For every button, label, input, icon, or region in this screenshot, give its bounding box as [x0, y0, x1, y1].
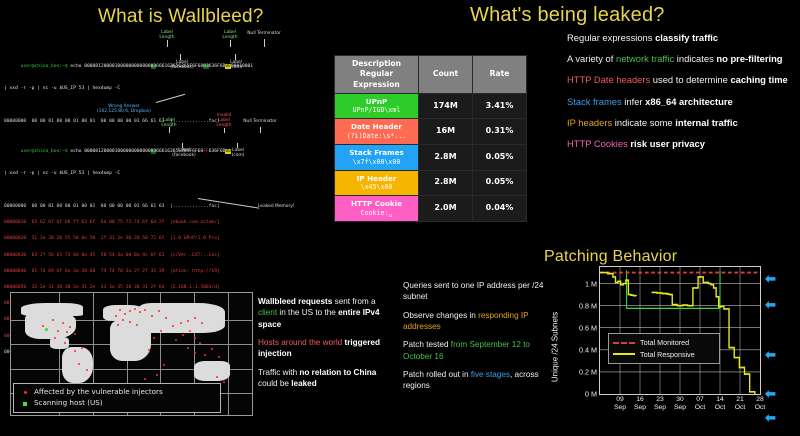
chart-x-tick-day: 23: [654, 396, 666, 404]
cell-description: UPnP UPnP/IGD\xml: [335, 93, 419, 119]
stage-arrow-icon: ⬅: [765, 300, 784, 309]
chart-x-tick: 09Sep: [614, 396, 626, 413]
chart-x-tick-day: 07: [695, 396, 706, 404]
text-span: used to determine: [650, 74, 730, 85]
chart-x-tick-day: 16: [634, 396, 646, 404]
text-span: IP headers: [567, 117, 612, 128]
text-span: HTTP Cookies: [567, 138, 628, 149]
affected-text-column: Wallbleed requests sent from a client in…: [258, 296, 390, 396]
cell-rate: 0.31%: [473, 119, 527, 145]
cell-rate: 0.04%: [473, 196, 527, 222]
stage-arrow-icon: ⬅: [765, 389, 784, 398]
annotation-tick: [260, 127, 261, 133]
annotation-label-com: Label (com): [220, 148, 256, 158]
column-header-description: Description Regular Expression: [335, 56, 419, 94]
regex-leak-table: Description Regular Expression Count Rat…: [334, 55, 527, 222]
cell-count: 174M: [419, 93, 473, 119]
regex-name: Date Header: [351, 122, 402, 131]
chart-stage-outline: [627, 270, 720, 308]
chart-x-tick-day: 30: [674, 396, 686, 404]
chart-x-tick-month: Oct: [715, 404, 726, 412]
cell-count: 2.0M: [419, 196, 473, 222]
landmass-south-america: [62, 347, 93, 384]
annotation-wrong-answer: Wrong Answer (162.125.80.6, Dropbox): [92, 104, 156, 114]
terminal-command-line-2: | xxd -r -p | nc -u $US_IP 53 | hexdump …: [4, 171, 329, 176]
world-map: Affected by the vulnerable injectors Sca…: [10, 292, 253, 416]
chart-y-tick: 0.4 M: [579, 345, 597, 354]
header-desc-line1: Description: [337, 59, 416, 69]
cell-rate: 0.05%: [473, 170, 527, 196]
solid-line-icon: [613, 353, 635, 355]
affected-paragraph: Hosts around the world triggered injecti…: [258, 337, 390, 360]
chart-legend-item: Total Monitored: [613, 337, 715, 349]
green-square-icon: [23, 402, 27, 406]
cell-description: IP Header \x45\x00: [335, 170, 419, 196]
patch-paragraph: Observe changes in responding IP address…: [403, 310, 545, 333]
chart-x-tick: 14Oct: [715, 396, 726, 413]
text-span: Patch tested: [403, 340, 451, 349]
legend-label: Scanning host (US): [34, 398, 103, 409]
hexdump-row: 00000050 32 2e 31 36 38 2e 31 2e 31 3a 3…: [4, 285, 329, 290]
regex-pattern: \x45\x00: [337, 183, 416, 192]
chart-x-tick: 07Oct: [695, 396, 706, 413]
leaked-bullet: HTTP Date headers used to determine cach…: [567, 74, 795, 86]
chart-y-axis-label: Unique /24 Subnets: [551, 311, 560, 381]
affected-paragraph: Wallbleed requests sent from a client in…: [258, 296, 390, 330]
annotation-tick: [264, 39, 265, 47]
poster-root: What is Wallbleed? What's being leaked? …: [0, 0, 800, 436]
terminal-command-line-2: | xxd -r -p | nc -u $US_IP 53 | hexdump …: [4, 86, 329, 91]
table-row: HTTP Cookie Cookie:␣ 2.0M 0.04%: [335, 196, 527, 222]
table-header-row: Description Regular Expression Count Rat…: [335, 56, 527, 94]
dashed-line-icon: [613, 342, 635, 344]
regex-name: IP Header: [357, 174, 397, 183]
text-span: network traffic: [616, 53, 674, 64]
hexdump-row: 00000030 63 2f 56 65 72 8d 0a 45 58 54 3…: [4, 253, 329, 258]
chart-legend-item: Total Responsive: [613, 349, 715, 361]
column-header-count: Count: [419, 56, 473, 94]
table-row: IP Header \x45\x00 2.8M 0.05%: [335, 170, 527, 196]
landmass-australia: [194, 361, 230, 381]
annotation-label-com: Label (com): [218, 60, 254, 70]
chart-x-tick-day: 28: [755, 396, 766, 404]
chart-x-tick: 30Sep: [674, 396, 686, 413]
chart-legend: Total MonitoredTotal Responsive: [608, 333, 720, 364]
chart-x-tick: 23Sep: [654, 396, 666, 413]
text-span: Queries sent to one IP address per /24 s…: [403, 281, 544, 301]
shell-prompt: user@china_box:~$: [21, 149, 68, 154]
table-row: UPnP UPnP/IGD\xml 174M 3.41%: [335, 93, 527, 119]
echo-command: echo 000081200001000000000000: [68, 149, 151, 154]
annotation-leaked-memory: Leaked Memory!: [258, 204, 318, 209]
cell-count: 2.8M: [419, 170, 473, 196]
text-span: indicate some: [612, 117, 675, 128]
chart-x-tick-month: Sep: [654, 404, 666, 412]
leaked-bullet: HTTP Cookies risk user privacy: [567, 138, 795, 150]
cell-description: Stack Frames \x7f\x00\x00: [335, 144, 419, 170]
regex-name: HTTP Cookie: [351, 199, 402, 208]
stage-arrow-icon: ⬅: [765, 413, 784, 422]
chart-x-tick-month: Sep: [674, 404, 686, 412]
text-span: five stages: [471, 370, 510, 379]
text-span: Hosts around the world: [258, 338, 342, 347]
leaked-bullet: A variety of network traffic indicates n…: [567, 53, 795, 65]
chart-x-tick-month: Oct: [755, 404, 766, 412]
text-span: indicates: [674, 53, 716, 64]
text-span: Stack frames: [567, 96, 622, 107]
text-span: no relation to China: [299, 368, 376, 377]
page-title-leaked: What's being leaked?: [470, 4, 665, 27]
regex-name: Stack Frames: [349, 148, 404, 157]
table-row: Date Header (?i)Date:\s*... 16M 0.31%: [335, 119, 527, 145]
echo-command: echo 000081200001000000000000: [68, 64, 151, 69]
red-dot-icon: [24, 391, 27, 394]
chart-x-tick-month: Sep: [614, 404, 626, 412]
text-span: A variety of: [567, 53, 616, 64]
regex-pattern: Cookie:␣: [337, 209, 416, 218]
text-span: Patch rolled out in: [403, 370, 471, 379]
chart-x-tick: 28Oct: [755, 396, 766, 413]
chart-y-tick: 1 M: [585, 279, 597, 288]
hexdump-row: 00000010 65 62 6f 6f 6b ff 63 6f 6d 00 7…: [4, 220, 329, 225]
leaked-bullet-list: Regular expressions classify trafficA va…: [567, 32, 795, 159]
page-title-wallbleed: What is Wallbleed?: [98, 6, 264, 28]
chart-legend-label: Total Responsive: [640, 349, 695, 361]
cell-count: 2.8M: [419, 144, 473, 170]
text-span: HTTP Date headers: [567, 74, 650, 85]
regex-pattern: \x7f\x00\x00: [337, 158, 416, 167]
annotation-null-terminator: Null Terminator: [240, 31, 288, 36]
text-span: x86_64 architecture: [645, 96, 733, 107]
annotation-label-length: Label Length: [150, 30, 184, 40]
chart-x-tick-day: 09: [614, 396, 626, 404]
table-row: Stack Frames \x7f\x00\x00 2.8M 0.05%: [335, 144, 527, 170]
annotation-label-facebook: Label (facebook): [162, 60, 202, 70]
annotation-label-facebook: Label (facebook): [164, 148, 204, 158]
patch-paragraph: Patch rolled out in five stages, across …: [403, 369, 545, 392]
chart-x-tick: 21Oct: [735, 396, 746, 413]
text-span: sent from a: [332, 297, 375, 306]
text-span: client: [258, 308, 277, 317]
text-span: could be: [258, 379, 291, 388]
chart-x-tick-day: 14: [715, 396, 726, 404]
text-span: Observe changes in: [403, 311, 478, 320]
regex-name: UPnP: [366, 97, 388, 106]
text-span: leaked: [291, 379, 317, 388]
cell-rate: 3.41%: [473, 93, 527, 119]
annotation-tick: [169, 127, 170, 133]
chart-y-tick: 0.8 M: [579, 301, 597, 310]
stage-arrow-icon: ⬅: [765, 350, 784, 359]
annotation-null-terminator: Null Terminator: [236, 119, 284, 124]
hexdump-row: 00000020 31 2e 30 20 55 50 6e 50 2f 31 2…: [4, 236, 329, 241]
annotation-tick: [230, 40, 231, 47]
legend-item-affected: Affected by the vulnerable injectors: [18, 387, 216, 398]
leaked-bullet: Regular expressions classify traffic: [567, 32, 795, 44]
text-span: Wallbleed requests: [258, 297, 332, 306]
leaked-bullet: IP headers indicate some internal traffi…: [567, 117, 795, 129]
chart-x-tick-month: Oct: [735, 404, 746, 412]
chart-legend-label: Total Monitored: [640, 337, 689, 349]
text-span: risk user privacy: [630, 138, 705, 149]
shell-prompt: user@china_box:~$: [21, 64, 68, 69]
cell-description: HTTP Cookie Cookie:␣: [335, 196, 419, 222]
patch-paragraph: Queries sent to one IP address per /24 s…: [403, 280, 545, 303]
patching-chart: Unique /24 Subnets 0 M0.2 M0.4 M0.6 M0.8…: [551, 264, 783, 429]
text-span: infer: [622, 96, 645, 107]
regex-pattern: UPnP/IGD\xml: [337, 106, 416, 115]
column-header-rate: Rate: [473, 56, 527, 94]
legend-item-scanning-host: Scanning host (US): [18, 398, 216, 409]
text-span: classify traffic: [655, 32, 718, 43]
chart-y-tick: 0.6 M: [579, 323, 597, 332]
leaked-bullet: Stack frames infer x86_64 architecture: [567, 96, 795, 108]
text-span: Traffic with: [258, 368, 299, 377]
patch-text-column: Queries sent to one IP address per /24 s…: [403, 280, 545, 399]
chart-y-tick: 0.2 M: [579, 367, 597, 376]
text-span: in the US to the: [277, 308, 338, 317]
text-span: Regular expressions: [567, 32, 655, 43]
patch-paragraph: Patch tested from September 12 to Octobe…: [403, 339, 545, 362]
hexdump-row: 00000040 61 74 69 6f 6e 3a 20 68 74 74 7…: [4, 269, 329, 274]
chart-y-tick: 0 M: [585, 390, 597, 399]
cell-rate: 0.05%: [473, 144, 527, 170]
chart-x-tick-month: Sep: [634, 404, 646, 412]
affected-paragraph: Traffic with no relation to China could …: [258, 367, 390, 390]
annotation-tick: [224, 128, 225, 133]
landmass-asia: [139, 303, 226, 334]
map-legend: Affected by the vulnerable injectors Sca…: [13, 383, 221, 413]
chart-x-tick-day: 21: [735, 396, 746, 404]
text-span: internal traffic: [675, 117, 738, 128]
regex-pattern: (?i)Date:\s*...: [337, 132, 416, 141]
header-desc-line2: Regular Expression: [337, 69, 416, 90]
chart-plot-area: 0 M0.2 M0.4 M0.6 M0.8 M1 M09Sep16Sep23Se…: [599, 266, 761, 395]
chart-x-tick: 16Sep: [634, 396, 646, 413]
world-map-panel: Affected by the vulnerable injectors Sca…: [10, 292, 253, 416]
chart-x-tick-month: Oct: [695, 404, 706, 412]
text-span: no pre-filtering: [716, 53, 782, 64]
cell-description: Date Header (?i)Date:\s*...: [335, 119, 419, 145]
cell-count: 16M: [419, 119, 473, 145]
text-span: caching time: [730, 74, 787, 85]
annotation-tick: [167, 40, 168, 47]
stage-arrow-icon: ⬅: [765, 274, 784, 283]
annotation-invalid-label-length: Invalid Label Length: [209, 113, 239, 128]
chart-svg: [600, 267, 760, 394]
legend-label: Affected by the vulnerable injectors: [34, 387, 163, 398]
